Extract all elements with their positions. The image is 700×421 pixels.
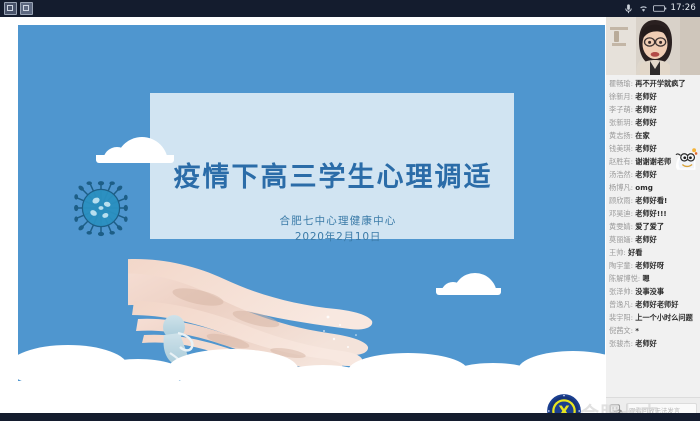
chat-text: 老师好看!	[635, 196, 667, 205]
chat-text: 老师好	[635, 105, 657, 114]
list-item: 陶宇童: 老师好呀	[609, 260, 697, 272]
chat-text: 老师好呀	[635, 261, 664, 270]
chat-text: 老师好老师好	[635, 300, 678, 309]
chat-text: 好看	[628, 248, 642, 257]
status-bar-left-icons	[4, 2, 33, 15]
chat-sender: 张新玥:	[609, 118, 633, 127]
list-item: 瞿畅瑜: 再不开学就疯了	[609, 78, 697, 90]
list-item: 裴宇阳: 上一个小时么问题	[609, 312, 697, 324]
chat-text: 上一个小时么问题	[635, 313, 693, 322]
chat-text: 老师好	[635, 235, 657, 244]
chat-sender: 陶宇童:	[609, 261, 633, 270]
chat-sender: 杨博凡:	[609, 183, 633, 192]
list-item: 陈解博悦: 嗯	[609, 273, 697, 285]
page-title: 疫情下高三学生心理调适	[168, 150, 498, 198]
chat-sender: 王帅:	[609, 248, 626, 257]
chat-sender: 黄雯婧:	[609, 222, 633, 231]
wifi-icon	[638, 3, 649, 14]
slide-subtitle-date: 2020年2月10日	[248, 229, 428, 244]
chat-sender: 赵胜有:	[609, 157, 633, 166]
app-window-icon	[4, 2, 17, 15]
chat-sender: 张骏杰:	[609, 339, 633, 348]
chat-text: 谢谢谢老师	[635, 157, 671, 166]
page-body: 疫情下高三学生心理调适 合肥七中心理健康中心 2020年2月10日	[0, 17, 700, 413]
chat-message-list[interactable]: 瞿畅瑜: 再不开学就疯了 徐新月: 老师好 李子萌: 老师好 张新玥: 老师好 …	[606, 75, 700, 397]
chat-text: 在家	[635, 131, 649, 140]
chat-text: 老师好	[635, 339, 657, 348]
chat-text: 老师好	[635, 144, 657, 153]
chat-text: 老师好	[635, 118, 657, 127]
chat-sender: 裴宇阳:	[609, 313, 633, 322]
android-status-bar: 17:26	[0, 0, 700, 17]
live-class-sidebar: 瞿畅瑜: 再不开学就疯了 徐新月: 老师好 李子萌: 老师好 张新玥: 老师好 …	[606, 17, 700, 421]
chat-text: 没事没事	[635, 287, 664, 296]
list-item: 邓昊迪: 老师好!!!	[609, 208, 697, 220]
cloud-band-bottom	[18, 351, 605, 407]
list-item: 顾欣雨: 老师好看!	[609, 195, 697, 207]
chat-text: 老师好	[635, 92, 657, 101]
chat-sender: 张泽帅:	[609, 287, 633, 296]
chat-sender: 汤浩然:	[609, 170, 633, 179]
status-bar-clock: 17:26	[671, 4, 697, 13]
presentation-slide[interactable]: 疫情下高三学生心理调适 合肥七中心理健康中心 2020年2月10日	[18, 25, 605, 407]
list-item: 倪茜文: *	[609, 325, 697, 337]
list-item: 黄志扬: 在家	[609, 130, 697, 142]
chat-text: 嗯	[642, 274, 649, 283]
slide-subtitle-org: 合肥七中心理健康中心	[248, 213, 428, 228]
chat-sender: 顾欣雨:	[609, 196, 633, 205]
teacher-video-feed[interactable]	[606, 17, 700, 75]
bottom-nav-strip	[0, 413, 700, 421]
chat-sender: 瞿畅瑜:	[609, 79, 633, 88]
list-item: 张骏杰: 老师好	[609, 338, 697, 350]
list-item: 曾逸凡: 老师好老师好	[609, 299, 697, 311]
battery-icon	[653, 3, 667, 14]
chat-text: *	[635, 326, 639, 335]
chat-sender: 曾逸凡:	[609, 300, 633, 309]
chat-sender: 邓昊迪:	[609, 209, 633, 218]
list-item: 莫丽婳: 老师好	[609, 234, 697, 246]
chat-sender: 陈解博悦:	[609, 274, 640, 283]
screen-root: 17:26	[0, 0, 700, 421]
list-item: 徐新月: 老师好	[609, 91, 697, 103]
chat-sender: 黄志扬:	[609, 131, 633, 140]
microphone-icon	[623, 3, 634, 14]
chat-text: 老师好!!!	[635, 209, 666, 218]
list-item: 杨博凡: omg	[609, 182, 697, 194]
list-item: 张新玥: 老师好	[609, 117, 697, 129]
chat-sender: 徐新月:	[609, 92, 633, 101]
emoji-sticker	[672, 145, 698, 171]
list-item: 黄雯婧: 爱了爱了	[609, 221, 697, 233]
list-item: 李子萌: 老师好	[609, 104, 697, 116]
app-tiles-icon	[20, 2, 33, 15]
chat-sender: 钱美琪:	[609, 144, 633, 153]
chat-text: 爱了爱了	[635, 222, 664, 231]
cloud-shape-right	[453, 273, 497, 295]
chat-sender: 倪茜文:	[609, 326, 633, 335]
list-item: 王帅: 好看	[609, 247, 697, 259]
chat-sender: 莫丽婳:	[609, 235, 633, 244]
chat-text: omg	[635, 183, 653, 192]
chat-sender: 李子萌:	[609, 105, 633, 114]
list-item: 张泽帅: 没事没事	[609, 286, 697, 298]
status-bar-right-icons: 17:26	[623, 3, 697, 14]
chat-text: 老师好	[635, 170, 657, 179]
chat-text: 再不开学就疯了	[635, 79, 685, 88]
coronavirus-illustration	[70, 177, 132, 239]
